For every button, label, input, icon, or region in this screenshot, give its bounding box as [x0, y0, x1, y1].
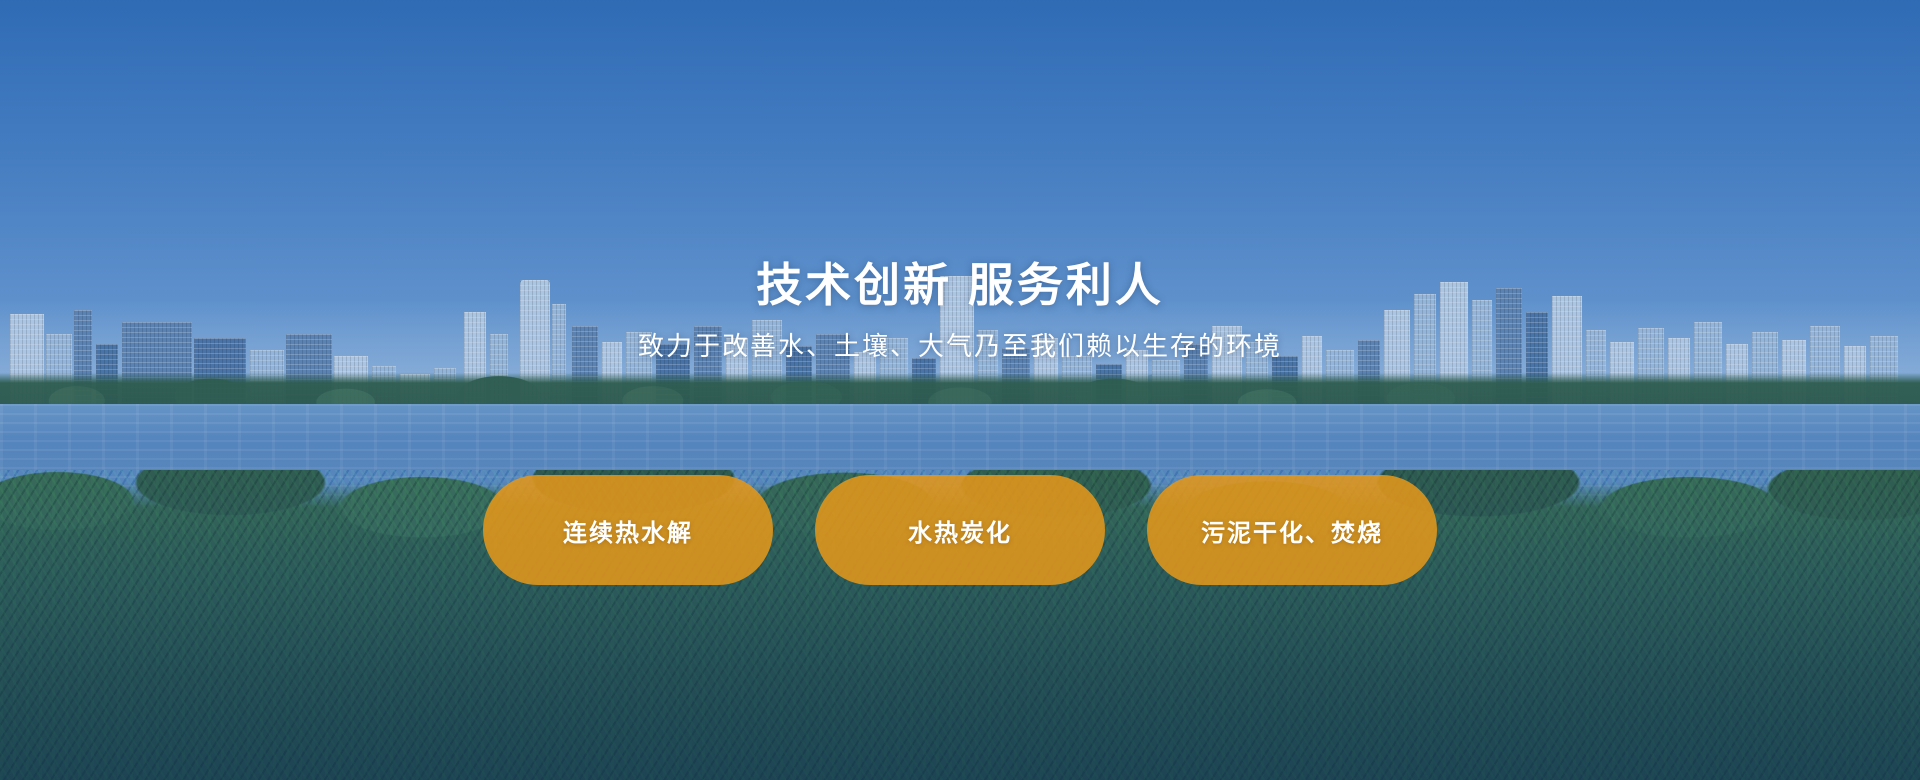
service-button-hydrothermal-carbonization[interactable]: 水热炭化: [815, 475, 1105, 585]
service-button-sludge-drying-incineration[interactable]: 污泥干化、焚烧: [1147, 475, 1437, 585]
service-button-continuous-thermal-hydrolysis[interactable]: 连续热水解: [483, 475, 773, 585]
page-title: 技术创新 服务利人: [0, 0, 1920, 312]
page-subtitle: 致力于改善水、土壤、大气乃至我们赖以生存的环境: [0, 326, 1920, 363]
service-button-group: 连续热水解 水热炭化 污泥干化、焚烧: [0, 475, 1920, 585]
hero-banner: 技术创新 服务利人 致力于改善水、土壤、大气乃至我们赖以生存的环境 连续热水解 …: [0, 0, 1920, 780]
hero-copy: 技术创新 服务利人 致力于改善水、土壤、大气乃至我们赖以生存的环境: [0, 0, 1920, 363]
